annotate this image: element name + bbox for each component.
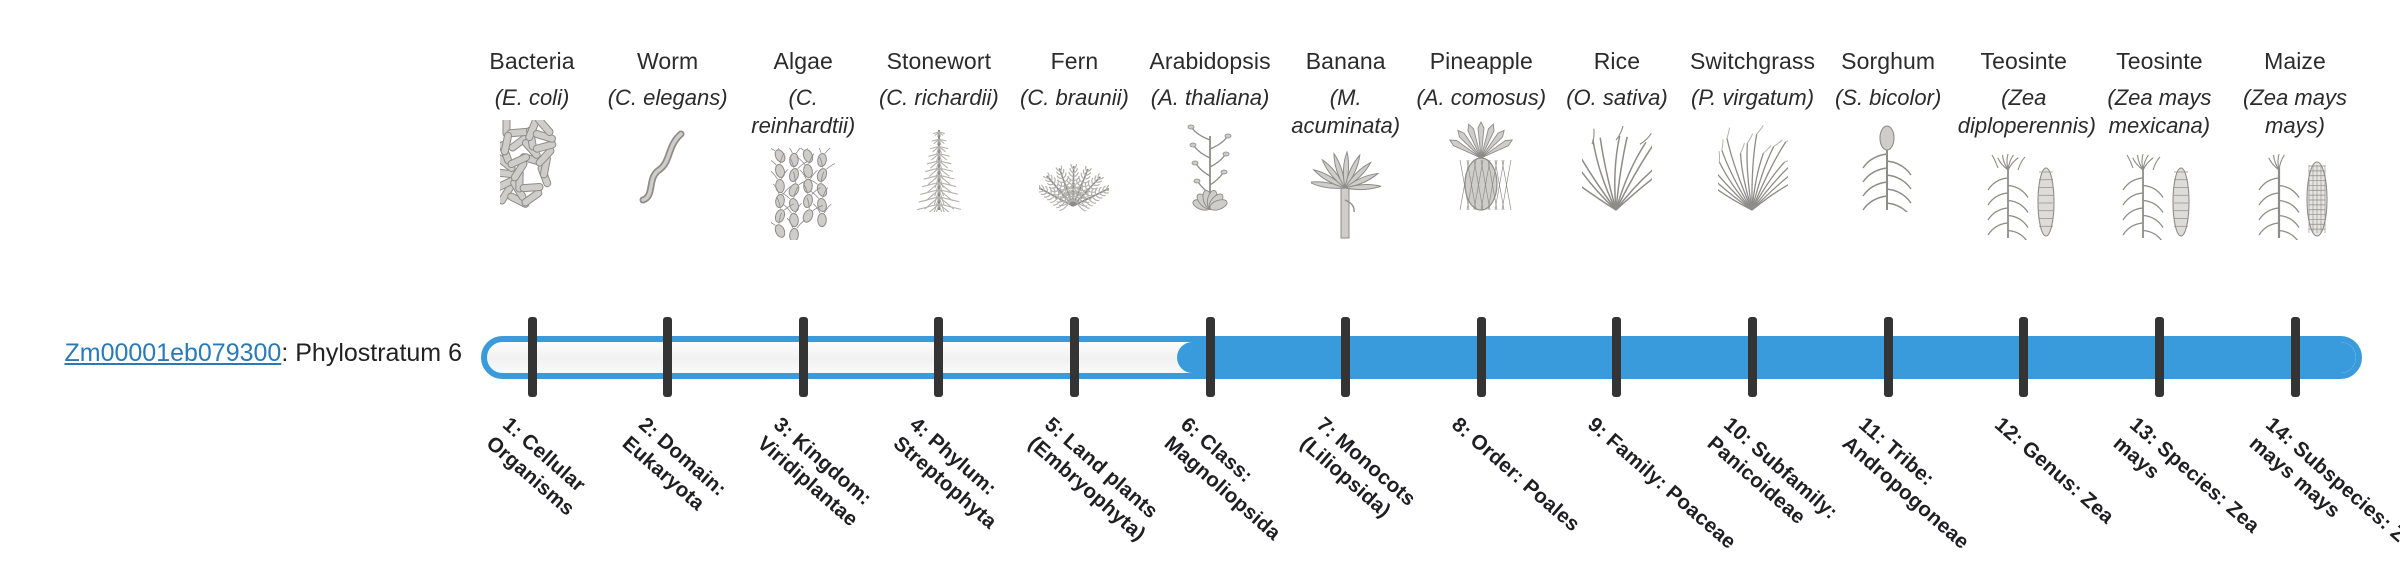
species-column: Fern(C. braunii) bbox=[1006, 46, 1142, 212]
tick-mark bbox=[1070, 317, 1079, 397]
tick-mark bbox=[2155, 317, 2164, 397]
species-common-name: Stonewort bbox=[871, 46, 1007, 77]
species-column: Stonewort(C. richardii) bbox=[871, 46, 1007, 212]
rank-name: Kingdom: Viridiplantae bbox=[753, 429, 876, 531]
phylostratum-bar-fill bbox=[1177, 342, 2356, 373]
species-latin-name: (S. bicolor) bbox=[1820, 84, 1956, 112]
species-column: Maize(Zea mays mays) bbox=[2227, 46, 2363, 240]
rank-name: Cellular Organisms bbox=[482, 429, 590, 521]
tick-mark bbox=[2291, 317, 2300, 397]
species-latin-name: (Zea diploperennis) bbox=[1956, 84, 2092, 140]
green-algae-cells-icon bbox=[735, 148, 871, 240]
gene-label: Zm00001eb079300: Phylostratum 6 bbox=[0, 338, 462, 368]
bacteria-rods-icon bbox=[464, 120, 600, 212]
rank-name: Genus: Zea bbox=[2017, 436, 2118, 528]
pineapple-fruit-icon bbox=[1413, 120, 1549, 212]
tick-mark bbox=[1748, 317, 1757, 397]
rank-number: 12: bbox=[1990, 413, 2028, 450]
species-column: Pineapple(A. comosus) bbox=[1413, 46, 1549, 212]
tick-mark bbox=[663, 317, 672, 397]
species-common-name: Sorghum bbox=[1820, 46, 1956, 77]
species-column: Switchgrass(P. virgatum) bbox=[1685, 46, 1821, 212]
species-latin-name: (P. virgatum) bbox=[1685, 84, 1821, 112]
species-latin-name: (O. sativa) bbox=[1549, 84, 1685, 112]
phylostratum-figure: Bacteria(E. coli)Worm(C. elegans)Algae(C… bbox=[0, 0, 2400, 580]
gene-id-link[interactable]: Zm00001eb079300 bbox=[64, 339, 281, 367]
tick-mark bbox=[1884, 317, 1893, 397]
species-common-name: Arabidopsis bbox=[1142, 46, 1278, 77]
tick-mark bbox=[1206, 317, 1215, 397]
species-common-name: Banana bbox=[1278, 46, 1414, 77]
species-common-name: Rice bbox=[1549, 46, 1685, 77]
species-column: Worm(C. elegans) bbox=[600, 46, 736, 212]
rank-name: Monocots (Liliopsida) bbox=[1296, 429, 1420, 522]
species-latin-name: (Zea mays mexicana) bbox=[2091, 84, 2227, 140]
species-column: Bacteria(E. coli) bbox=[464, 46, 600, 212]
species-latin-name: (C. richardii) bbox=[871, 84, 1007, 112]
species-common-name: Switchgrass bbox=[1685, 46, 1821, 77]
banana-plant-icon bbox=[1278, 148, 1414, 240]
tick-mark bbox=[799, 317, 808, 397]
species-column: Algae(C. reinhardtii) bbox=[735, 46, 871, 240]
species-common-name: Teosinte bbox=[1956, 46, 2092, 77]
tick-mark bbox=[934, 317, 943, 397]
rank-name: Domain: Eukaryota bbox=[617, 429, 730, 515]
teosinte-plant-and-ear-icon bbox=[2091, 148, 2227, 240]
species-track: Bacteria(E. coli)Worm(C. elegans)Algae(C… bbox=[0, 0, 2400, 310]
species-latin-name: (M. acuminata) bbox=[1278, 84, 1414, 140]
tick-mark bbox=[1612, 317, 1621, 397]
species-column: Banana(M. acuminata) bbox=[1278, 46, 1414, 240]
teosinte-plant-and-ear-icon bbox=[1956, 148, 2092, 240]
species-column: Teosinte(Zea mays mexicana) bbox=[2091, 46, 2227, 240]
species-latin-name: (A. comosus) bbox=[1413, 84, 1549, 112]
species-column: Arabidopsis(A. thaliana) bbox=[1142, 46, 1278, 212]
species-column: Sorghum(S. bicolor) bbox=[1820, 46, 1956, 212]
species-column: Rice(O. sativa) bbox=[1549, 46, 1685, 212]
species-common-name: Bacteria bbox=[464, 46, 600, 77]
maize-plant-and-ear-icon bbox=[2227, 148, 2363, 240]
switchgrass-clump-icon bbox=[1685, 120, 1821, 212]
species-latin-name: (C. reinhardtii) bbox=[735, 84, 871, 140]
fern-frond-icon bbox=[1006, 120, 1142, 212]
nematode-worm-icon bbox=[600, 120, 736, 212]
phylostratum-bar[interactable] bbox=[481, 336, 2362, 379]
tick-mark bbox=[1477, 317, 1486, 397]
species-common-name: Pineapple bbox=[1413, 46, 1549, 77]
tick-mark bbox=[2019, 317, 2028, 397]
species-latin-name: (C. braunii) bbox=[1006, 84, 1142, 112]
species-common-name: Fern bbox=[1006, 46, 1142, 77]
species-common-name: Worm bbox=[600, 46, 736, 77]
gene-label-separator: : bbox=[281, 339, 295, 367]
arabidopsis-rosette-icon bbox=[1142, 120, 1278, 212]
tick-mark bbox=[528, 317, 537, 397]
rank-name: Subfamily: Panicoideae bbox=[1702, 432, 1841, 529]
stonewort-alga-icon bbox=[871, 120, 1007, 212]
phylostratum-bar-outline bbox=[481, 336, 2362, 379]
rice-plant-icon bbox=[1549, 120, 1685, 212]
species-latin-name: (Zea mays mays) bbox=[2227, 84, 2363, 140]
sorghum-plant-icon bbox=[1820, 120, 1956, 212]
species-common-name: Teosinte bbox=[2091, 46, 2227, 77]
species-latin-name: (E. coli) bbox=[464, 84, 600, 112]
species-latin-name: (C. elegans) bbox=[600, 84, 736, 112]
tick-mark bbox=[1341, 317, 1350, 397]
species-latin-name: (A. thaliana) bbox=[1142, 84, 1278, 112]
rank-name: Order: Poales bbox=[1466, 429, 1585, 536]
species-common-name: Algae bbox=[735, 46, 871, 77]
gene-phylostratum-text: Phylostratum 6 bbox=[295, 339, 462, 367]
species-column: Teosinte(Zea diploperennis) bbox=[1956, 46, 2092, 240]
species-common-name: Maize bbox=[2227, 46, 2363, 77]
